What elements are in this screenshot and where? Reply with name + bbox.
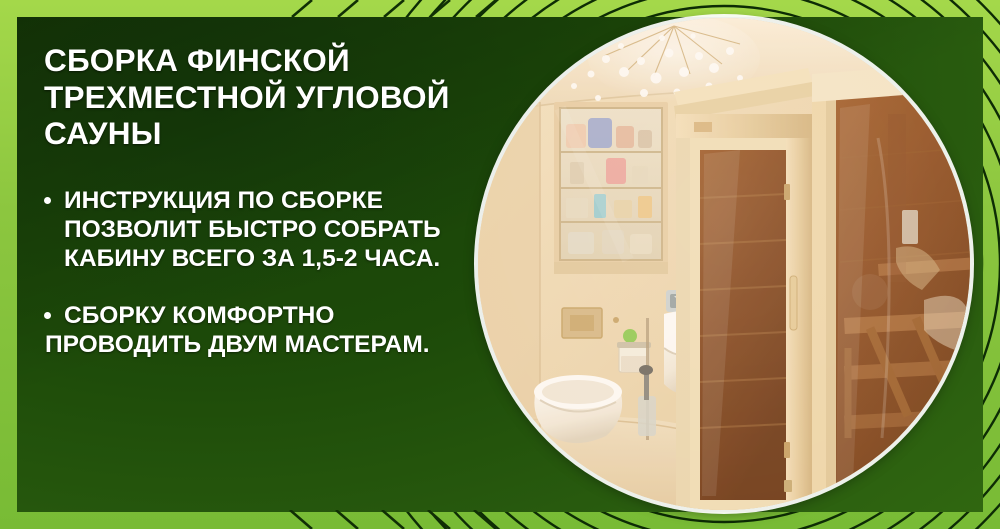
list-item: СБОРКУ КОМФОРТНО ПРОВОДИТЬ ДВУМ МАСТЕРАМ… bbox=[44, 301, 514, 360]
bullet-text-line1: СБОРКУ КОМФОРТНО bbox=[64, 302, 334, 329]
bullet-dot-icon bbox=[44, 312, 51, 319]
feature-bullet-list: ИНСТРУКЦИЯ ПО СБОРКЕ ПОЗВОЛИТ БЫСТРО СОБ… bbox=[44, 186, 514, 360]
list-item: ИНСТРУКЦИЯ ПО СБОРКЕ ПОЗВОЛИТ БЫСТРО СОБ… bbox=[44, 186, 514, 274]
sauna-bathroom-photo bbox=[478, 18, 970, 510]
bullet-dot-icon bbox=[44, 197, 51, 204]
page-title: СБОРКА ФИНСКОЙ ТРЕХМЕСТНОЙ УГЛОВОЙ САУНЫ bbox=[44, 42, 514, 152]
bullet-text-line2: ПРОВОДИТЬ ДВУМ МАСТЕРАМ. bbox=[45, 330, 514, 359]
bullet-text: ИНСТРУКЦИЯ ПО СБОРКЕ ПОЗВОЛИТ БЫСТРО СОБ… bbox=[64, 187, 441, 273]
sauna-promo-banner: СБОРКА ФИНСКОЙ ТРЕХМЕСТНОЙ УГЛОВОЙ САУНЫ… bbox=[0, 0, 1000, 529]
text-column: СБОРКА ФИНСКОЙ ТРЕХМЕСТНОЙ УГЛОВОЙ САУНЫ… bbox=[44, 42, 514, 360]
